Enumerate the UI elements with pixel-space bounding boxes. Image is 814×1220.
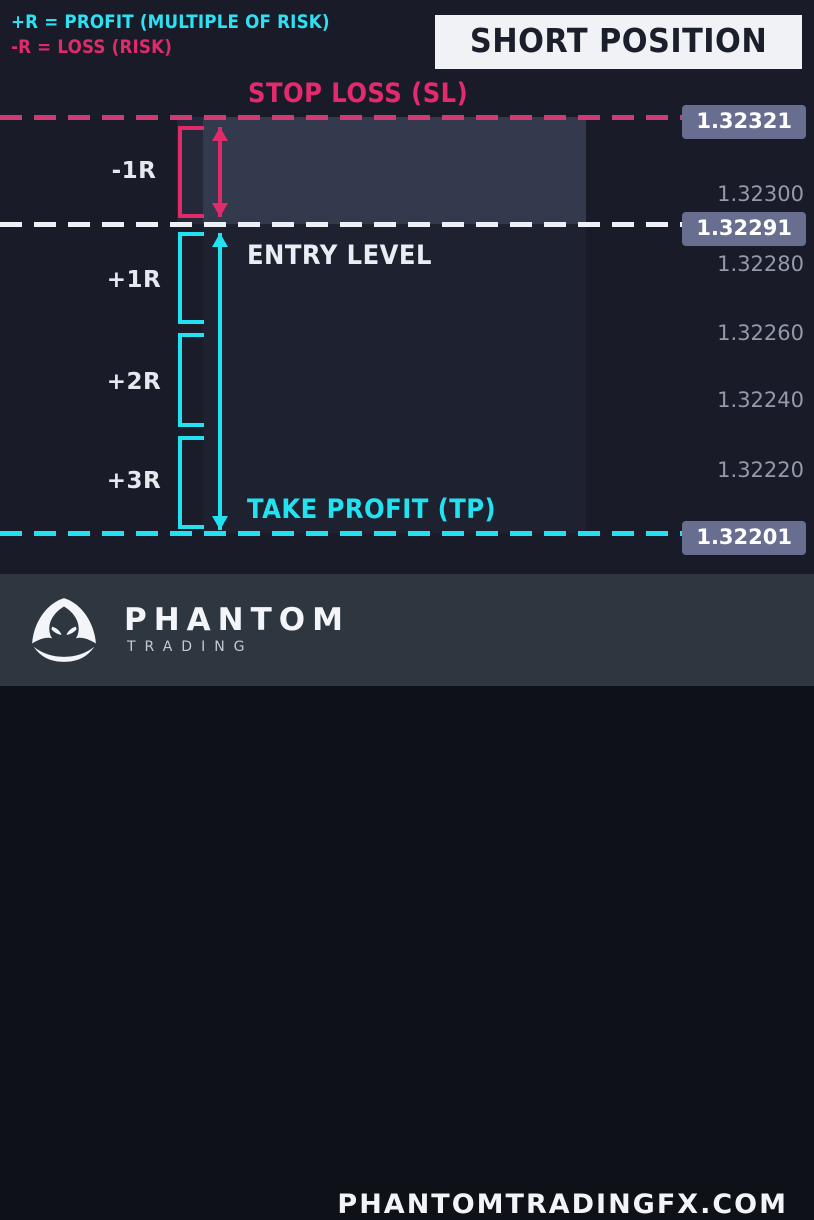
- phantom-hood-icon: [22, 588, 106, 672]
- price-tick-1-32240: 1.32240: [717, 390, 804, 411]
- position-type-badge: SHORT POSITION: [435, 15, 802, 69]
- brand-name-primary: PHANTOM: [124, 603, 350, 637]
- chart-area: +R = PROFIT (MULTIPLE OF RISK) -R = LOSS…: [0, 0, 814, 574]
- footer-bar: PHANTOM TRADING PHANTOMTRADINGFX.COM: [0, 574, 814, 686]
- legend-profit-text: +R = PROFIT (MULTIPLE OF RISK): [11, 10, 330, 35]
- short-position-infographic: +R = PROFIT (MULTIPLE OF RISK) -R = LOSS…: [0, 0, 814, 686]
- bracket-plus-1r: [178, 232, 204, 324]
- legend-loss-text: -R = LOSS (RISK): [11, 35, 330, 60]
- risk-arrow-head-up: [212, 127, 228, 141]
- risk-arrow-head-down: [212, 203, 228, 217]
- bracket-minus-1r: [178, 126, 204, 218]
- bracket-plus-3r: [178, 436, 204, 529]
- bracket-plus-2r: [178, 333, 204, 427]
- profit-arrow-head-down: [212, 516, 228, 530]
- r-label-plus-3r: +3R: [104, 468, 164, 494]
- price-label-entry: 1.32291: [682, 212, 806, 246]
- r-label-minus-1r: -1R: [104, 158, 164, 184]
- price-label-take-profit: 1.32201: [682, 521, 806, 555]
- profit-measure-arrow: [211, 233, 229, 530]
- profit-arrow-head-up: [212, 233, 228, 247]
- price-tick-1-32260: 1.32260: [717, 323, 804, 344]
- brand-logo: PHANTOM TRADING: [22, 588, 350, 672]
- profit-arrow-shaft: [218, 233, 222, 530]
- website-url: PHANTOMTRADINGFX.COM: [337, 1190, 788, 1220]
- r-label-plus-1r: +1R: [104, 267, 164, 293]
- position-type-label: SHORT POSITION: [470, 24, 767, 58]
- stop-loss-caption: STOP LOSS (SL): [248, 78, 468, 109]
- r-label-plus-2r: +2R: [104, 369, 164, 395]
- take-profit-caption: TAKE PROFIT (TP): [247, 494, 496, 525]
- price-tick-1-32280: 1.32280: [717, 254, 804, 275]
- price-tick-1-32220: 1.32220: [717, 460, 804, 481]
- legend: +R = PROFIT (MULTIPLE OF RISK) -R = LOSS…: [11, 10, 373, 60]
- brand-text: PHANTOM TRADING: [124, 603, 350, 657]
- price-tick-1-32300: 1.32300: [717, 184, 804, 205]
- brand-name-secondary: TRADING: [124, 637, 350, 657]
- entry-caption: ENTRY LEVEL: [247, 240, 432, 271]
- risk-zone-shading: [177, 117, 586, 224]
- risk-measure-arrow: [211, 127, 229, 217]
- price-label-stop-loss: 1.32321: [682, 105, 806, 139]
